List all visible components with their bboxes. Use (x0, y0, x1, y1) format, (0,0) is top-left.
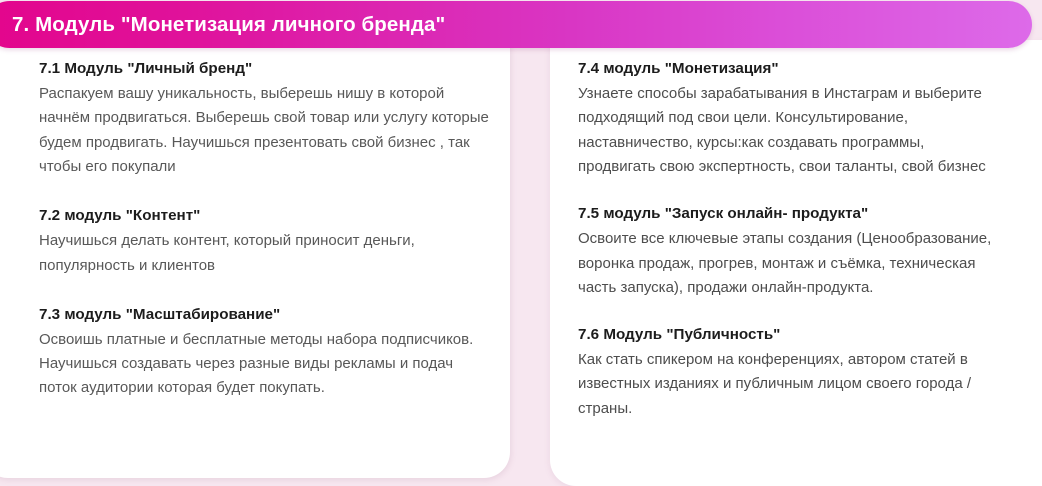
module-item-7-4: 7.4 модуль "Монетизация" Узнаете способы… (578, 58, 998, 179)
module-item-7-5: 7.5 модуль "Запуск онлайн- продукта" Осв… (578, 203, 998, 300)
page-background: 7. Модуль "Монетизация личного бренда" 7… (0, 0, 1042, 486)
module-body: Узнаете способы зарабатывания в Инстагра… (578, 82, 998, 179)
module-title: 7.5 модуль "Запуск онлайн- продукта" (578, 203, 998, 225)
module-title: 7.1 Модуль "Личный бренд" (39, 58, 491, 80)
left-column: 7.1 Модуль "Личный бренд" Распакуем вашу… (39, 58, 491, 401)
module-body: Освоишь платные и бесплатные методы набо… (39, 328, 491, 401)
module-title: 7.4 модуль "Монетизация" (578, 58, 998, 80)
module-body: Освоите все ключевые этапы создания (Цен… (578, 227, 998, 300)
module-item-7-2: 7.2 модуль "Контент" Научишься делать ко… (39, 205, 491, 278)
module-title: 7.3 модуль "Масштабирование" (39, 304, 491, 326)
module-body: Распакуем вашу уникальность, выберешь ни… (39, 82, 491, 179)
module-item-7-6: 7.6 Модуль "Публичность" Как стать спике… (578, 324, 998, 421)
module-title: 7.2 модуль "Контент" (39, 205, 491, 227)
page-title: 7. Модуль "Монетизация личного бренда" (12, 13, 445, 37)
module-body: Научишься делать контент, который принос… (39, 229, 491, 278)
module-item-7-1: 7.1 Модуль "Личный бренд" Распакуем вашу… (39, 58, 491, 179)
section-header-bar: 7. Модуль "Монетизация личного бренда" (0, 1, 1032, 48)
module-item-7-3: 7.3 модуль "Масштабирование" Освоишь пла… (39, 304, 491, 401)
module-body: Как стать спикером на конференциях, авто… (578, 348, 998, 421)
module-title: 7.6 Модуль "Публичность" (578, 324, 998, 346)
right-column: 7.4 модуль "Монетизация" Узнаете способы… (578, 58, 998, 421)
